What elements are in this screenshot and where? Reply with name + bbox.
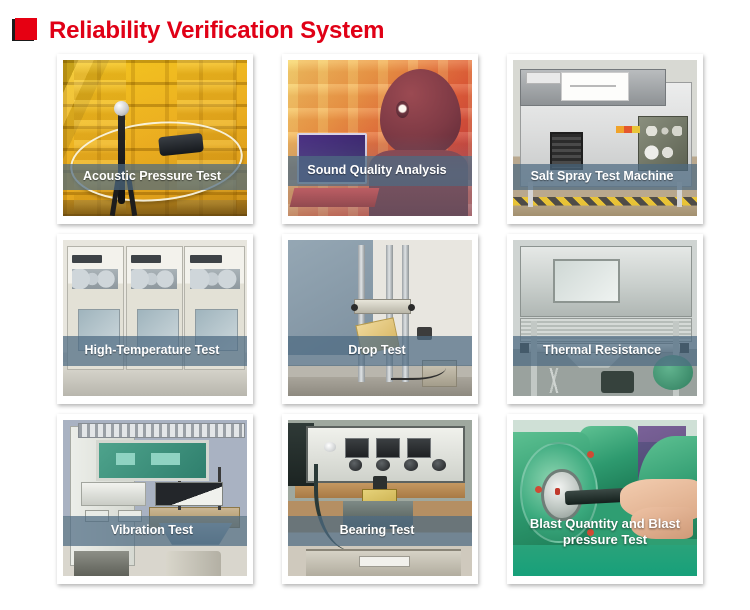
card-blast-quantity-and-blast-pressure-test[interactable]: Blast Quantity and Blast pressure Test — [507, 414, 703, 584]
card-salt-spray-test-machine[interactable]: Salt Spray Test Machine — [507, 54, 703, 224]
card-image-acoustic-pressure-test: Acoustic Pressure Test — [63, 60, 247, 216]
page-header: Reliability Verification System — [0, 0, 750, 44]
card-caption: Sound Quality Analysis — [288, 156, 472, 186]
card-image-sound-quality-analysis: Sound Quality Analysis — [288, 60, 472, 216]
card-caption: Thermal Resistance — [513, 336, 697, 366]
card-image-salt-spray-test-machine: Salt Spray Test Machine — [513, 60, 697, 216]
card-sound-quality-analysis[interactable]: Sound Quality Analysis — [282, 54, 478, 224]
card-caption: Bearing Test — [288, 516, 472, 546]
card-caption: High-Temperature Test — [63, 336, 247, 366]
card-caption: Blast Quantity and Blast pressure Test — [513, 511, 697, 554]
card-caption: Salt Spray Test Machine — [513, 164, 697, 190]
card-image-blast-quantity-and-blast-pressure-test: Blast Quantity and Blast pressure Test — [513, 420, 697, 576]
card-high-temperature-test[interactable]: High-Temperature Test — [57, 234, 253, 404]
card-acoustic-pressure-test[interactable]: Acoustic Pressure Test — [57, 54, 253, 224]
card-image-thermal-resistance: Thermal Resistance — [513, 240, 697, 396]
card-image-vibration-test: Vibration Test — [63, 420, 247, 576]
card-caption: Vibration Test — [63, 516, 247, 546]
card-drop-test[interactable]: Drop Test — [282, 234, 478, 404]
card-caption: Drop Test — [288, 336, 472, 366]
page-title: Reliability Verification System — [49, 19, 384, 43]
card-image-high-temperature-test: High-Temperature Test — [63, 240, 247, 396]
card-thermal-resistance[interactable]: Thermal Resistance — [507, 234, 703, 404]
card-bearing-test[interactable]: Bearing Test — [282, 414, 478, 584]
card-vibration-test[interactable]: Vibration Test — [57, 414, 253, 584]
card-caption: Acoustic Pressure Test — [63, 164, 247, 190]
test-capability-grid: Acoustic Pressure Test Sound Quality Ana… — [0, 54, 750, 584]
card-image-bearing-test: Bearing Test — [288, 420, 472, 576]
card-image-drop-test: Drop Test — [288, 240, 472, 396]
red-square-bullet-icon — [12, 18, 38, 44]
